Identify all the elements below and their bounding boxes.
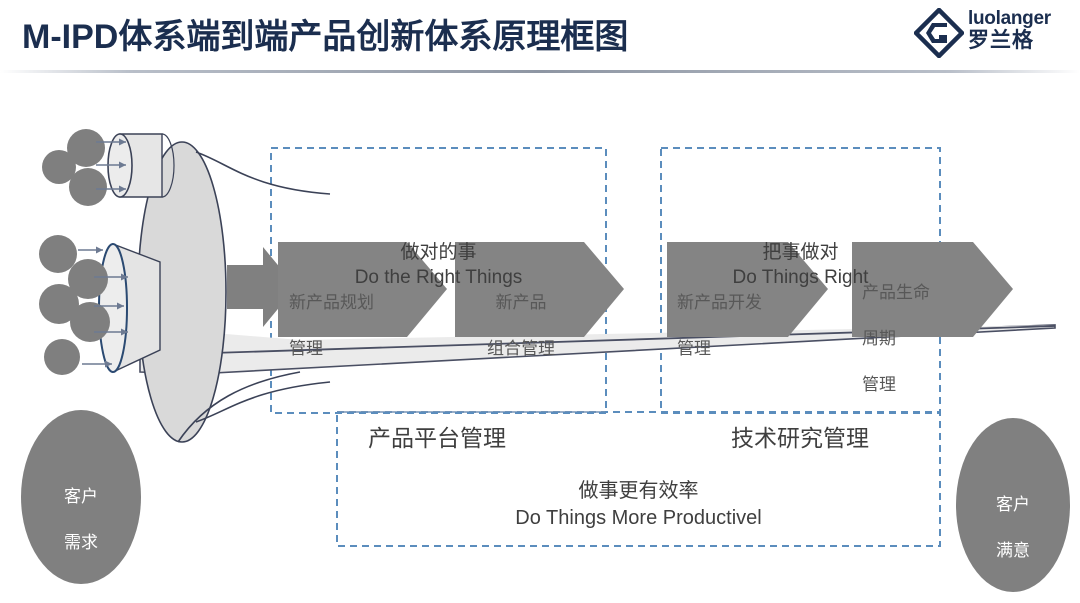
customer-requirement-label: 客户 需求: [31, 462, 131, 577]
page-title: M-IPD体系端到端产品创新体系原理框图: [22, 9, 628, 58]
customer-satisfaction-label: 客户 满意: [963, 470, 1063, 585]
diamond-g-logo-icon: [914, 8, 964, 58]
chevron-label-line2: 管理: [289, 337, 414, 360]
brand-logo-text: luolanger 罗兰格: [968, 8, 1066, 52]
ellipse-label-line2: 需求: [31, 531, 131, 554]
chevron-label-line1: 新产品规划: [289, 291, 414, 314]
chevron-label-line1: 产品生命: [862, 281, 972, 304]
chevron-label-new-product-development: 新产品开发 管理: [677, 268, 802, 383]
foundation-caption-cn: 做事更有效率: [337, 478, 940, 505]
foundation-caption-en: Do Things More Productivel: [337, 505, 940, 532]
chevron-label-new-product-planning: 新产品规划 管理: [289, 268, 414, 383]
ellipse-label-line1: 客户: [31, 485, 131, 508]
brand-name-en: luolanger: [968, 8, 1066, 29]
input-dot-cluster-bottom: [39, 235, 110, 375]
chevron-label-line2: 组合管理: [455, 337, 587, 360]
brand-name-cn: 罗兰格: [968, 29, 1066, 52]
requirement-funnel: [99, 244, 160, 372]
brand-logo: luolanger 罗兰格: [914, 6, 1066, 60]
input-dot-cluster-top: [42, 129, 107, 206]
ellipse-label-line2: 满意: [963, 539, 1063, 562]
chevron-label-product-lifecycle: 产品生命 周期 管理: [862, 258, 972, 419]
foundation-left-label: 产品平台管理: [368, 419, 506, 453]
slide-canvas: M-IPD体系端到端产品创新体系原理框图 luolanger 罗兰格: [0, 0, 1080, 603]
chevron-label-line3: 管理: [862, 373, 972, 396]
chevron-label-line1: 新产品: [455, 291, 587, 314]
horn-curve-top: [196, 152, 330, 194]
ellipse-label-line1: 客户: [963, 493, 1063, 516]
slide-header: M-IPD体系端到端产品创新体系原理框图 luolanger 罗兰格: [0, 0, 1080, 72]
foundation-caption: 做事更有效率 Do Things More Productivel: [337, 478, 940, 532]
chevron-label-line1: 新产品开发: [677, 291, 802, 314]
foundation-right-label: 技术研究管理: [731, 419, 869, 453]
group-title-cn: 做对的事: [271, 240, 606, 265]
chevron-label-line2: 管理: [677, 337, 802, 360]
chevron-label-new-product-portfolio: 新产品 组合管理: [455, 268, 587, 383]
chevron-label-line2: 周期: [862, 327, 972, 350]
